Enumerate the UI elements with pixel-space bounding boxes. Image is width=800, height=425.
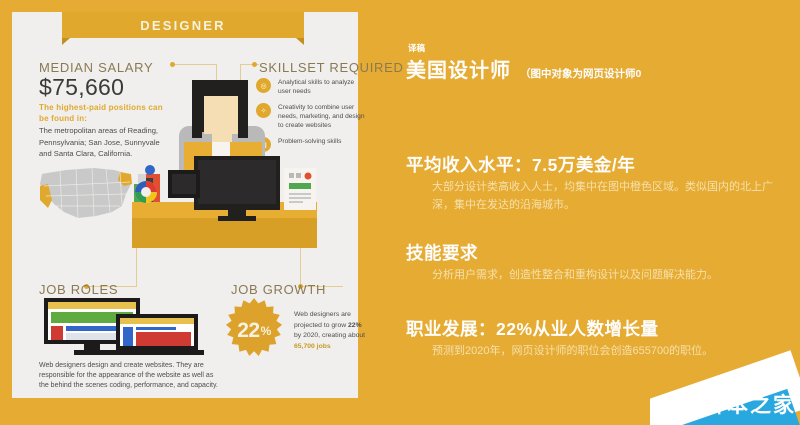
infographic-card: DESIGNER MEDIAN SALARY $75,660 The highe… xyxy=(12,12,358,398)
growth-text-bold-2: 65,700 jobs xyxy=(294,343,331,350)
job-growth-value: 22 xyxy=(237,319,259,343)
growth-text-1: Web designers are projected to grow xyxy=(294,311,351,329)
watermark-brand: 脚本之家 xyxy=(704,389,796,419)
translation-heading-growth: 职业发展：22%从业人数增长量 xyxy=(406,316,659,341)
job-growth-unit: % xyxy=(261,324,271,338)
growth-text-bold-1: 22% xyxy=(348,322,362,329)
job-growth-badge-label: 22% xyxy=(221,298,287,364)
translation-title: 美国设计师 xyxy=(406,60,511,82)
translation-heading-skills: 技能要求 xyxy=(406,240,478,265)
devices-illustration xyxy=(44,298,204,356)
designer-banner: DESIGNER xyxy=(62,12,304,38)
job-roles-body: Web designers design and create websites… xyxy=(39,361,219,391)
banner-ribbon-right-fold xyxy=(296,38,304,45)
job-growth-body: Web designers are projected to grow 22% … xyxy=(294,310,366,352)
infographic-page: DESIGNER MEDIAN SALARY $75,660 The highe… xyxy=(0,0,800,425)
watermark-url: jb51.net xyxy=(732,375,794,389)
translation-title-note: （图中对象为网页设计师0 xyxy=(520,68,641,80)
median-salary-title: MEDIAN SALARY xyxy=(39,60,153,75)
connector-dot-median-salary xyxy=(170,62,175,67)
watermark: jb51.net 脚本之家 xyxy=(650,345,800,425)
translation-kicker: 译稿 xyxy=(408,42,425,54)
job-growth-title: JOB GROWTH xyxy=(231,282,326,297)
median-salary-amount: $75,660 xyxy=(39,74,124,101)
connector-dot-skillset xyxy=(252,62,257,67)
skillset-title: SKILLSET REQUIRED xyxy=(259,60,404,75)
designer-at-desk-illustration xyxy=(132,74,317,259)
translation-body-skills: 分析用户需求，创造性整合和重构设计以及问题解决能力。 xyxy=(432,266,788,284)
growth-text-2: by 2020, creating about xyxy=(294,332,365,339)
translation-body-salary: 大部分设计类高收入人士，均集中在图中橙色区域。类似国内的北上广深，集中在发达的沿… xyxy=(432,178,788,214)
job-roles-title: JOB ROLES xyxy=(39,282,118,297)
banner-title: DESIGNER xyxy=(140,18,226,33)
connector-job-roles xyxy=(88,234,137,287)
banner-ribbon-left-fold xyxy=(62,38,70,45)
translation-heading-salary: 平均收入水平：7.5万美金/年 xyxy=(406,152,635,177)
page-title: 美国设计师（图中对象为网页设计师0 xyxy=(406,54,641,83)
us-map-icon xyxy=(36,160,141,228)
